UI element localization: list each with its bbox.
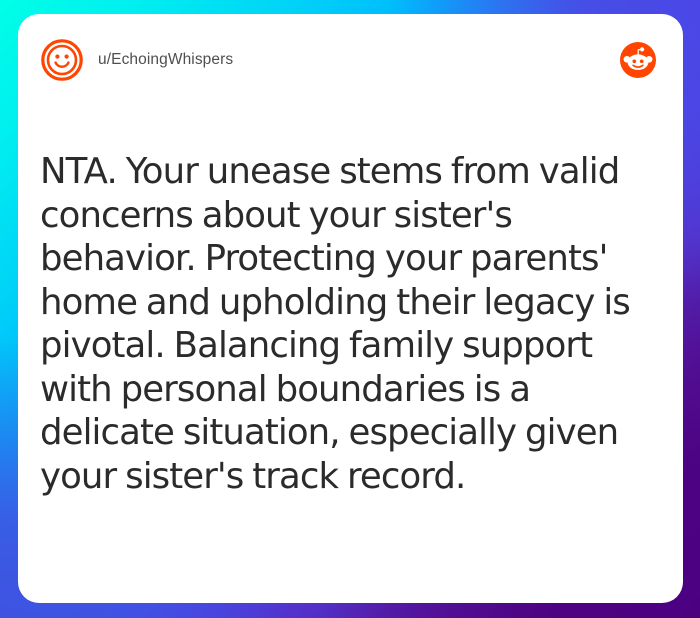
reddit-snoo-icon[interactable]	[619, 41, 657, 79]
smiley-face-avatar-icon[interactable]	[40, 38, 84, 82]
card-header: u/EchoingWhispers	[18, 14, 683, 106]
comment-text: NTA. Your unease stems from valid concer…	[40, 150, 665, 498]
username-label: u/EchoingWhispers	[98, 51, 233, 69]
screenshot-root: u/EchoingWhispers	[0, 0, 700, 618]
card-body: NTA. Your unease stems from valid concer…	[40, 150, 665, 498]
reddit-comment-card: u/EchoingWhispers	[18, 14, 683, 603]
